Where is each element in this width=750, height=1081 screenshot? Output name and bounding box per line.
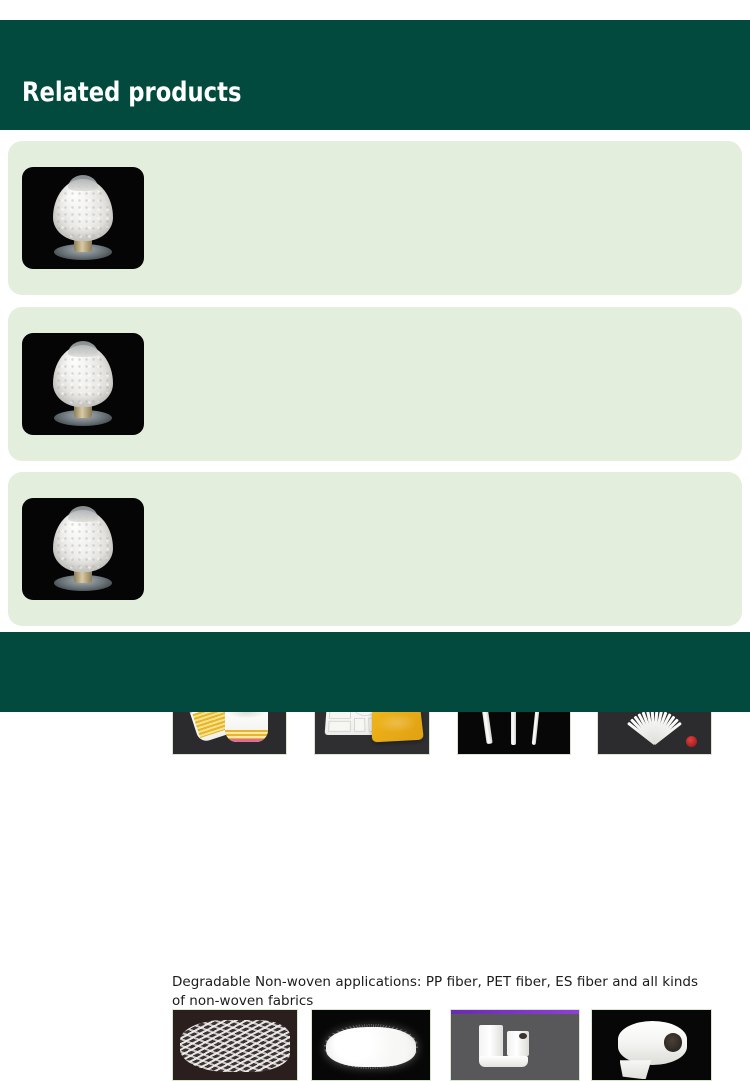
granule-thumbnail-pp[interactable]: [22, 333, 144, 435]
granule-illustration: [22, 498, 144, 600]
product-card-pp[interactable]: Degradable PP Products: Lunch Box, Drink…: [8, 307, 742, 461]
fabric-roll-small: [507, 1031, 529, 1056]
purple-background-strip: [451, 1010, 579, 1014]
tissue-roll-illustration: [618, 1021, 687, 1064]
tissue-sheet-tail: [620, 1060, 652, 1079]
tissue-roll-core: [664, 1033, 682, 1051]
granule-pile-highlight: [68, 341, 98, 357]
thumbnail-tissue-roll[interactable]: [591, 1009, 712, 1081]
granule-thumbnail-pe[interactable]: [22, 167, 144, 269]
granule-thumbnail-nonwoven[interactable]: [22, 498, 144, 600]
cup-base-pink: [225, 739, 268, 742]
granule-illustration: [22, 167, 144, 269]
lid-highlight: [377, 713, 418, 734]
thumbnail-nonwoven-fabric-rolls[interactable]: [450, 1009, 580, 1081]
product-description-nonwoven: Degradable Non-woven applications: PP fi…: [172, 973, 698, 1011]
granule-pile-highlight: [68, 506, 98, 522]
page-title: Related products: [22, 76, 241, 110]
thumbnail-cut-fiber-bundle[interactable]: [172, 1009, 298, 1081]
fabric-roll-large: [479, 1025, 503, 1057]
product-card-pe[interactable]: Degradable PE Products: Shopping Bag, Co…: [8, 141, 742, 295]
fiber-bundle-illustration: [180, 1020, 289, 1072]
related-products-page: Related products Degradable PE Products:…: [0, 0, 750, 732]
tray-compartment-2: [329, 720, 352, 731]
footer-band: [0, 632, 750, 712]
product-card-nonwoven[interactable]: Degradable Non-woven applications: PP fi…: [8, 472, 742, 626]
thumbnail-staple-fiber-fluff[interactable]: [311, 1009, 431, 1081]
fabric-roll-core: [519, 1033, 527, 1040]
fabric-folded-sheet: [479, 1056, 528, 1067]
header-band: Related products: [0, 20, 750, 130]
granule-pile-highlight: [68, 175, 98, 191]
granule-illustration: [22, 333, 144, 435]
tray-compartment-4: [355, 718, 366, 732]
fiber-fluff-illustration: [326, 1027, 416, 1068]
